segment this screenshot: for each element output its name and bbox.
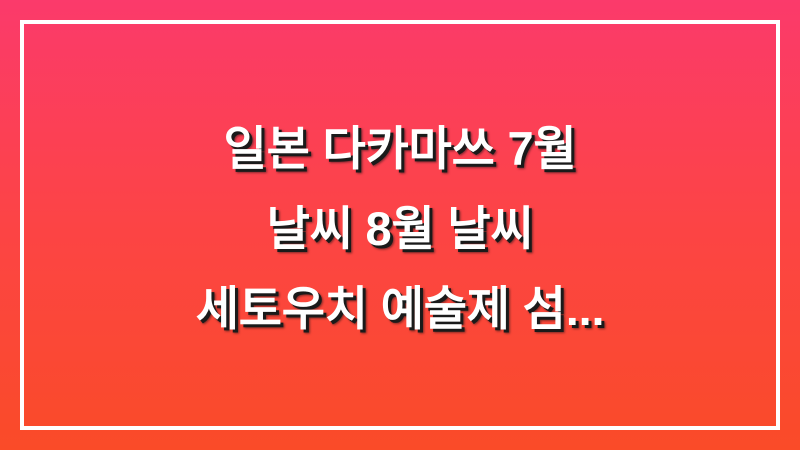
headline-line-1: 일본 다카마쓰 7월 <box>46 109 754 189</box>
headline-line-3: 세토우치 예술제 섬... <box>46 269 754 349</box>
headline-block: 일본 다카마쓰 7월 날씨 8월 날씨 세토우치 예술제 섬... <box>0 4 800 450</box>
thumbnail-card: 일본 다카마쓰 7월 날씨 8월 날씨 세토우치 예술제 섬... <box>0 0 800 450</box>
headline-line-2: 날씨 8월 날씨 <box>46 189 754 269</box>
